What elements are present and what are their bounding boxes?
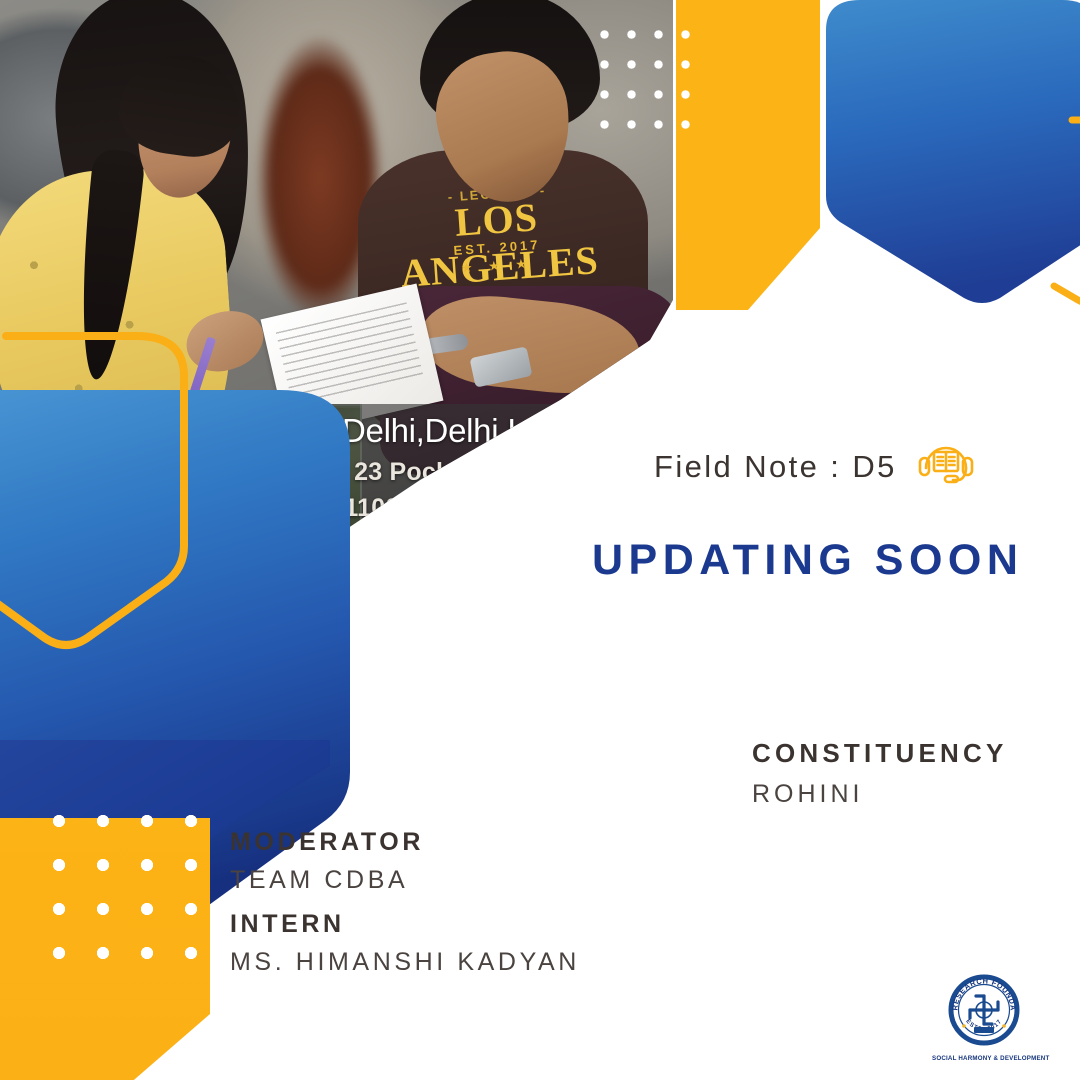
poster-canvas: - LEOTYPE - LOS ANGELES EST. 2017 ★ ★ ★ … bbox=[0, 0, 1080, 1080]
shd-foundation-seal-icon: SHD RESEARCH FOUNDATION ESTD. 2017 bbox=[932, 972, 1036, 1048]
dot-grid-top bbox=[600, 30, 696, 136]
field-note-block: Field Note : D5 bbox=[654, 438, 977, 495]
amber-hexagon-outline-right-wrap bbox=[1040, 116, 1080, 306]
constituency-block: CONSTITUENCY ROHINI bbox=[752, 738, 1008, 809]
amber-hexagon-outline-left-wrap bbox=[0, 330, 190, 660]
intern-label: INTERN bbox=[230, 910, 580, 939]
amber-top-shape bbox=[676, 0, 820, 310]
moderator-label: MODERATOR bbox=[230, 828, 580, 857]
constituency-label: CONSTITUENCY bbox=[752, 738, 1008, 769]
constituency-value: ROHINI bbox=[752, 780, 1008, 809]
intern-value: MS. HIMANSHI KADYAN bbox=[230, 948, 580, 977]
amber-hexagon-outline-left bbox=[0, 330, 190, 660]
audiobook-headset-icon bbox=[915, 438, 977, 495]
dot-grid-bottom-left bbox=[52, 814, 212, 974]
gps-map-camera-icon bbox=[632, 368, 664, 400]
amber-hexagon-outline-right bbox=[1040, 116, 1080, 306]
organisation-logo: SHD RESEARCH FOUNDATION ESTD. 2017 SOCIA… bbox=[932, 972, 1036, 1068]
credits-block: MODERATOR TEAM CDBA INTERN MS. HIMANSHI … bbox=[230, 828, 580, 977]
field-note-label: Field Note : D5 bbox=[654, 449, 897, 485]
moderator-value: TEAM CDBA bbox=[230, 866, 580, 895]
status-headline: UPDATING SOON bbox=[592, 536, 1023, 585]
pin-glyph bbox=[639, 372, 657, 390]
logo-tagline: SOCIAL HARMONY & DEVELOPMENT bbox=[932, 1055, 1036, 1062]
